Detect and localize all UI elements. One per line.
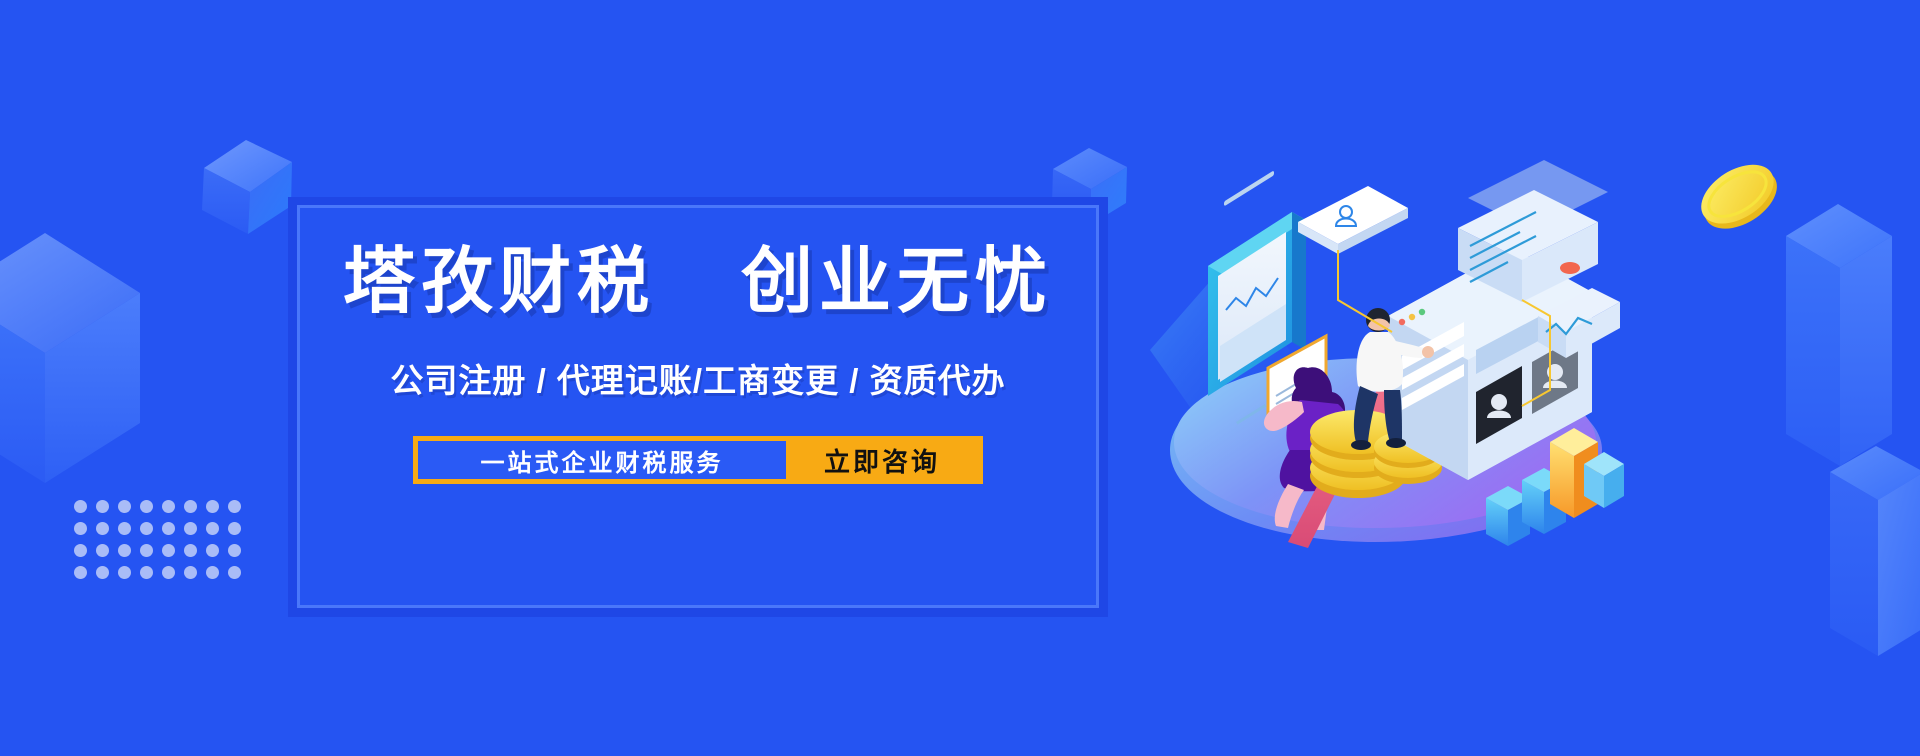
gold-coin-top-right bbox=[1690, 150, 1786, 240]
iso-block-right-lower bbox=[1830, 430, 1920, 660]
iso-block-right bbox=[1786, 176, 1920, 476]
bar-chart-3d bbox=[1486, 428, 1624, 546]
business-isometric-illustration bbox=[1140, 150, 1620, 570]
headline-part-1: 塔孜财税 bbox=[343, 242, 655, 322]
banner-content: 塔孜财税 创业无忧 公司注册 / 代理记账/工商变更 / 资质代办 一站式企业财… bbox=[300, 208, 1096, 605]
connector-lines bbox=[1338, 250, 1550, 406]
page-title: 塔孜财税 创业无忧 bbox=[343, 246, 1053, 318]
dashboard-window bbox=[1388, 248, 1592, 480]
coin-stack bbox=[1310, 410, 1442, 498]
floating-card-chart bbox=[1538, 288, 1620, 358]
person-man bbox=[1351, 308, 1434, 450]
person-woman bbox=[1264, 367, 1354, 530]
growth-arrow bbox=[1288, 346, 1420, 548]
headline-part-2: 创业无忧 bbox=[741, 242, 1053, 322]
consult-now-button[interactable]: 立即咨询 bbox=[786, 442, 978, 479]
cta-bar[interactable]: 一站式企业财税服务 立即咨询 bbox=[413, 436, 983, 484]
promo-banner: 塔孜财税 创业无忧 公司注册 / 代理记账/工商变更 / 资质代办 一站式企业财… bbox=[0, 0, 1920, 756]
floating-card-profile bbox=[1298, 186, 1408, 254]
dot-grid-decoration bbox=[74, 500, 250, 588]
floating-card-document bbox=[1458, 160, 1608, 302]
service-list-subtitle: 公司注册 / 代理记账/工商变更 / 资质代办 bbox=[390, 354, 1005, 402]
cta-primary-tag: 一站式企业财税服务 bbox=[418, 441, 786, 479]
iso-block-left bbox=[0, 225, 180, 485]
